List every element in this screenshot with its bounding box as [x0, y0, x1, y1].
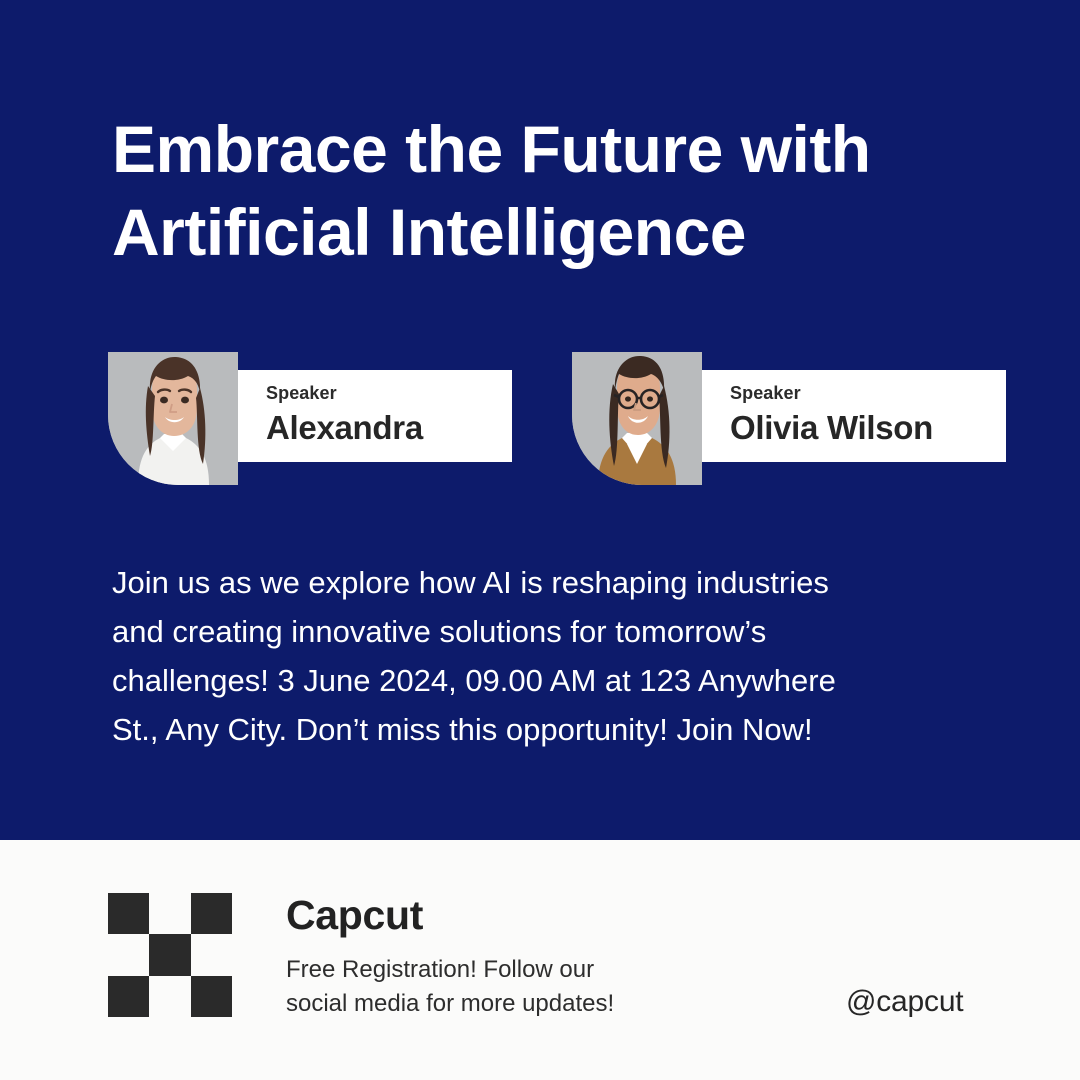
speaker-name: Olivia Wilson [730, 408, 1006, 448]
logo-cell [191, 893, 232, 934]
avatar [108, 352, 238, 485]
speaker-role-label: Speaker [730, 384, 1006, 404]
body-line-2: and creating innovative solutions for to… [112, 607, 992, 656]
logo-cell [108, 893, 149, 934]
logo-cell [149, 934, 190, 975]
tagline-line-1: Free Registration! Follow our [286, 953, 756, 987]
logo-cell [191, 976, 232, 1017]
brand-tagline: Free Registration! Follow our social med… [286, 953, 756, 1021]
avatar [572, 352, 702, 485]
social-handle[interactable]: @capcut [846, 985, 963, 1019]
brand-name: Capcut [286, 893, 756, 939]
capcut-logo-icon [108, 893, 232, 1017]
logo-cell [149, 976, 190, 1017]
body-line-1: Join us as we explore how AI is reshapin… [112, 558, 992, 607]
headline-line-2: Artificial Intelligence [112, 191, 992, 274]
headline-line-1: Embrace the Future with [112, 108, 992, 191]
speaker-name: Alexandra [266, 408, 512, 448]
speaker-role-label: Speaker [266, 384, 512, 404]
logo-cell [149, 893, 190, 934]
event-description: Join us as we explore how AI is reshapin… [112, 558, 992, 754]
logo-cell [191, 934, 232, 975]
logo-cell [108, 934, 149, 975]
speaker-list: Speaker Alexandra [108, 352, 974, 486]
speaker-namecard: Speaker Alexandra [238, 370, 512, 462]
body-line-3: challenges! 3 June 2024, 09.00 AM at 123… [112, 656, 992, 705]
logo-cell [108, 976, 149, 1017]
speaker-card-olivia-wilson[interactable]: Speaker Olivia Wilson [572, 352, 976, 486]
poster-canvas: Embrace the Future with Artificial Intel… [0, 0, 1080, 1080]
tagline-line-2: social media for more updates! [286, 987, 756, 1021]
page-title: Embrace the Future with Artificial Intel… [112, 108, 992, 274]
brand-info: Capcut Free Registration! Follow our soc… [286, 893, 756, 1021]
speaker-namecard: Speaker Olivia Wilson [702, 370, 1006, 462]
speaker-card-alexandra[interactable]: Speaker Alexandra [108, 352, 512, 486]
body-line-4: St., Any City. Don’t miss this opportuni… [112, 705, 992, 754]
